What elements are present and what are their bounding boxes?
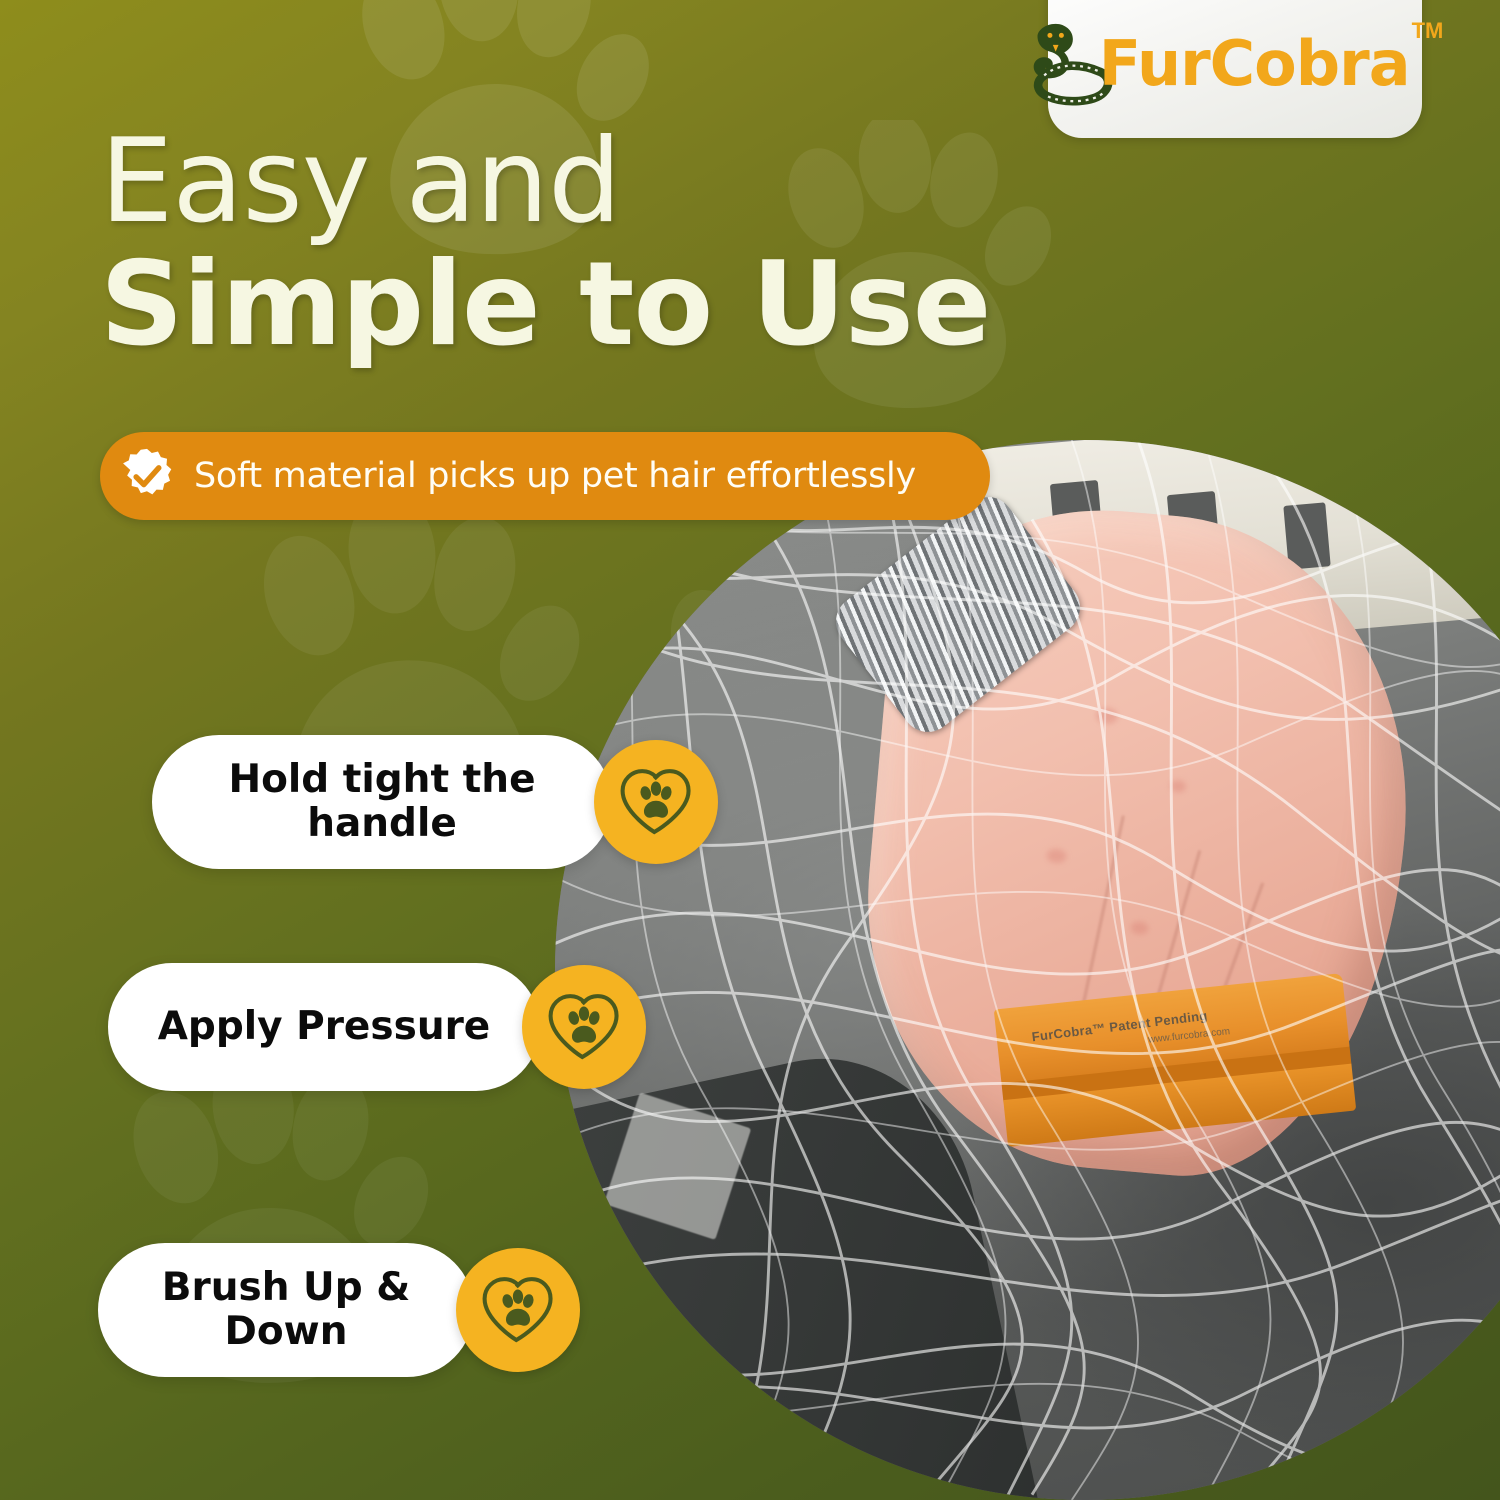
headline-line-2: Simple to Use — [100, 249, 990, 362]
step-badge — [594, 740, 718, 864]
step-label: Hold tight the handle — [206, 758, 557, 847]
step-pill: Apply Pressure — [108, 963, 540, 1091]
feature-banner: Soft material picks up pet hair effortle… — [100, 432, 990, 520]
promo-poster: FurCobra™ Patent Pending www.furcobra.co… — [0, 0, 1500, 1500]
step-label: Apply Pressure — [136, 1005, 513, 1049]
step-item: Brush Up & Down — [98, 1243, 580, 1377]
brand-logo: FurCobra TM — [1048, 0, 1422, 138]
verified-check-seal-icon — [118, 447, 176, 505]
step-pill: Hold tight the handle — [152, 735, 612, 869]
step-badge — [522, 965, 646, 1089]
heart-paw-icon — [543, 986, 625, 1068]
feature-banner-text: Soft material picks up pet hair effortle… — [194, 456, 916, 496]
step-item: Apply Pressure — [108, 963, 646, 1091]
step-label: Brush Up & Down — [140, 1266, 432, 1355]
product-demo-photo: FurCobra™ Patent Pending www.furcobra.co… — [555, 440, 1500, 1500]
step-item: Hold tight the handle — [152, 735, 718, 869]
step-pill: Brush Up & Down — [98, 1243, 474, 1377]
page-title: Easy and Simple to Use — [100, 126, 990, 361]
step-badge — [456, 1248, 580, 1372]
logo-trademark: TM — [1412, 18, 1444, 44]
headline-line-1: Easy and — [100, 126, 990, 239]
pet-hair-strands — [555, 440, 1500, 1500]
heart-paw-icon — [615, 761, 697, 843]
logo-wordmark: FurCobra — [1099, 33, 1410, 95]
heart-paw-icon — [477, 1269, 559, 1351]
